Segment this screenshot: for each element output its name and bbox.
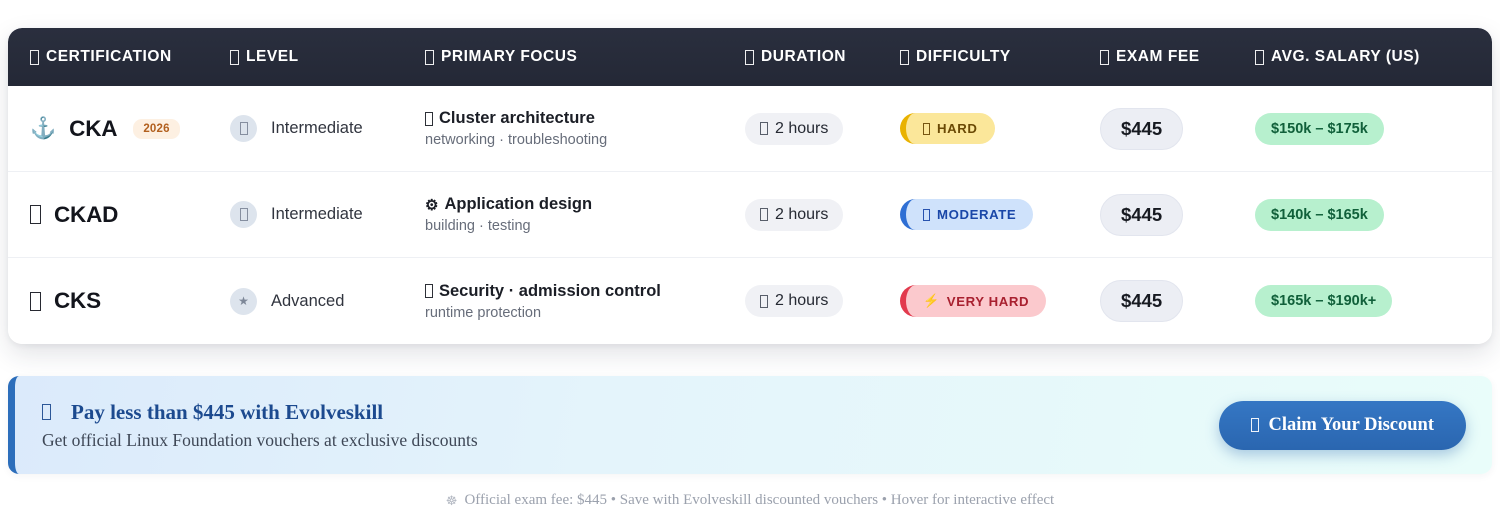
lightning-bolt-icon: ⚡ <box>923 293 940 309</box>
tofu-icon <box>240 122 248 135</box>
duration-pill: 2 hours <box>745 285 843 317</box>
certification-name: CKA <box>69 116 117 142</box>
salary-pill: $165k – $190k+ <box>1255 285 1392 317</box>
cell-primary-focus: Security · admission control runtime pro… <box>425 282 745 321</box>
promo-subtitle: Get official Linux Foundation vouchers a… <box>42 430 478 451</box>
column-header-exam-fee[interactable]: EXAM FEE <box>1100 48 1255 66</box>
column-header-certification[interactable]: CERTIFICATION <box>8 48 230 66</box>
exam-fee-pill: $445 <box>1100 194 1183 236</box>
salary-pill: $150k – $175k <box>1255 113 1384 145</box>
cell-difficulty: MODERATE <box>900 199 1100 230</box>
helm-icon: ☸ <box>446 493 458 509</box>
tofu-icon <box>760 295 768 308</box>
footnote-text: Official exam fee: $445 • Save with Evol… <box>464 492 1054 509</box>
focus-subtitle: networking · troubleshooting <box>425 132 745 148</box>
focus-title-text: Cluster architecture <box>439 109 595 128</box>
tofu-icon <box>1251 418 1259 432</box>
cell-avg-salary: $140k – $165k <box>1255 199 1485 231</box>
column-header-avg-salary[interactable]: AVG. SALARY (US) <box>1255 48 1485 66</box>
column-header-difficulty[interactable]: DIFFICULTY <box>900 48 1100 66</box>
duration-value: 2 hours <box>775 120 828 138</box>
level-label: Intermediate <box>271 205 363 224</box>
cell-difficulty: HARD <box>900 113 1100 144</box>
promo-title: Pay less than $445 with Evolveskill <box>42 400 478 425</box>
column-header-label: EXAM FEE <box>1116 48 1200 66</box>
tofu-icon <box>923 123 930 135</box>
promo-text-group: Pay less than $445 with Evolveskill Get … <box>42 400 478 451</box>
column-header-level[interactable]: LEVEL <box>230 48 425 66</box>
anchor-icon: ⚓ <box>30 118 56 139</box>
duration-value: 2 hours <box>775 292 828 310</box>
cell-duration: 2 hours <box>745 285 900 317</box>
tofu-icon <box>760 122 768 135</box>
table-row[interactable]: ⚓ CKA 2026 Intermediate Cluster architec… <box>8 86 1492 172</box>
column-header-label: LEVEL <box>246 48 299 66</box>
cell-certification: CKS <box>8 288 230 314</box>
column-header-label: DIFFICULTY <box>916 48 1011 66</box>
difficulty-badge: HARD <box>900 113 995 144</box>
tofu-icon <box>42 404 51 420</box>
cell-duration: 2 hours <box>745 113 900 145</box>
promo-banner: Pay less than $445 with Evolveskill Get … <box>8 376 1492 474</box>
focus-title-text: Application design <box>444 195 592 214</box>
duration-pill: 2 hours <box>745 199 843 231</box>
duration-value: 2 hours <box>775 206 828 224</box>
level-icon-badge <box>230 201 257 228</box>
exam-fee-pill: $445 <box>1100 280 1183 322</box>
star-icon: ★ <box>230 288 257 315</box>
difficulty-label: VERY HARD <box>947 294 1029 309</box>
difficulty-badge: ⚡ VERY HARD <box>900 285 1046 317</box>
table-row[interactable]: CKS ★ Advanced Security · admission cont… <box>8 258 1492 344</box>
focus-title: Cluster architecture <box>425 109 745 128</box>
cell-avg-salary: $150k – $175k <box>1255 113 1485 145</box>
tofu-icon <box>30 50 39 65</box>
column-header-duration[interactable]: DURATION <box>745 48 900 66</box>
cell-avg-salary: $165k – $190k+ <box>1255 285 1485 317</box>
cell-level: ★ Advanced <box>230 288 425 315</box>
cell-level: Intermediate <box>230 115 425 142</box>
exam-fee-pill: $445 <box>1100 108 1183 150</box>
cell-certification: ⚓ CKA 2026 <box>8 116 230 142</box>
tofu-icon <box>425 50 434 65</box>
cell-certification: CKAD <box>8 202 230 228</box>
column-header-label: AVG. SALARY (US) <box>1271 48 1420 66</box>
cell-difficulty: ⚡ VERY HARD <box>900 285 1100 317</box>
tofu-icon <box>745 50 754 65</box>
tofu-icon <box>240 208 248 221</box>
gear-icon: ⚙ <box>425 196 438 214</box>
tofu-icon <box>1255 50 1264 65</box>
salary-pill: $140k – $165k <box>1255 199 1384 231</box>
year-badge: 2026 <box>133 119 179 139</box>
tofu-icon <box>30 292 41 311</box>
claim-discount-button[interactable]: Claim Your Discount <box>1219 401 1467 450</box>
column-header-label: CERTIFICATION <box>46 48 172 66</box>
table-body: ⚓ CKA 2026 Intermediate Cluster architec… <box>8 86 1492 344</box>
certification-name: CKS <box>54 288 101 314</box>
cell-level: Intermediate <box>230 201 425 228</box>
cell-exam-fee: $445 <box>1100 194 1255 236</box>
cell-primary-focus: Cluster architecture networking · troubl… <box>425 109 745 148</box>
claim-discount-label: Claim Your Discount <box>1269 415 1435 436</box>
tofu-icon <box>900 50 909 65</box>
level-icon-badge <box>230 115 257 142</box>
column-header-label: DURATION <box>761 48 846 66</box>
tofu-icon <box>923 209 930 221</box>
tofu-icon <box>30 205 41 224</box>
cell-duration: 2 hours <box>745 199 900 231</box>
focus-subtitle: runtime protection <box>425 305 745 321</box>
certification-table-card: CERTIFICATION LEVEL PRIMARY FOCUS DURATI… <box>8 28 1492 344</box>
tofu-icon <box>230 50 239 65</box>
difficulty-label: MODERATE <box>937 207 1016 222</box>
cell-exam-fee: $445 <box>1100 108 1255 150</box>
table-header-row: CERTIFICATION LEVEL PRIMARY FOCUS DURATI… <box>8 28 1492 86</box>
level-label: Advanced <box>271 292 344 311</box>
tofu-icon <box>425 284 433 298</box>
focus-title-text: Security · admission control <box>439 282 661 301</box>
tofu-icon <box>425 112 433 126</box>
cell-exam-fee: $445 <box>1100 280 1255 322</box>
difficulty-label: HARD <box>937 121 978 136</box>
focus-subtitle: building · testing <box>425 218 745 234</box>
footnote: ☸ Official exam fee: $445 • Save with Ev… <box>8 492 1492 509</box>
duration-pill: 2 hours <box>745 113 843 145</box>
certification-comparison-page: CERTIFICATION LEVEL PRIMARY FOCUS DURATI… <box>0 0 1500 525</box>
column-header-label: PRIMARY FOCUS <box>441 48 577 66</box>
focus-title: Security · admission control <box>425 282 745 301</box>
difficulty-badge: MODERATE <box>900 199 1033 230</box>
certification-name: CKAD <box>54 202 118 228</box>
tofu-icon <box>760 208 768 221</box>
column-header-primary-focus[interactable]: PRIMARY FOCUS <box>425 48 745 66</box>
tofu-icon <box>1100 50 1109 65</box>
cell-primary-focus: ⚙ Application design building · testing <box>425 195 745 234</box>
promo-title-text: Pay less than $445 with Evolveskill <box>71 400 383 425</box>
level-label: Intermediate <box>271 119 363 138</box>
table-row[interactable]: CKAD Intermediate ⚙ Application design b… <box>8 172 1492 258</box>
focus-title: ⚙ Application design <box>425 195 745 214</box>
